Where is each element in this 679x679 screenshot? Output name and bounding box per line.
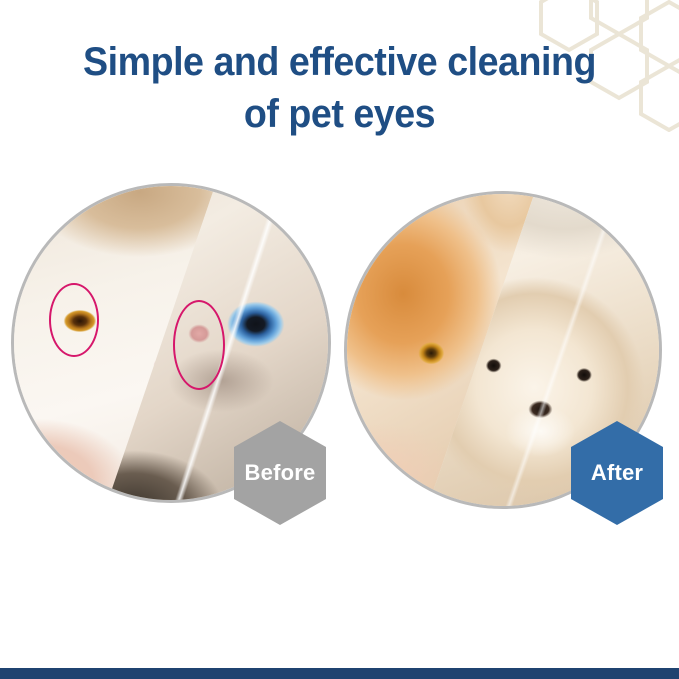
page-title: Simple and effective cleaning of pet eye… xyxy=(20,36,658,140)
page-title-line-1: Simple and effective cleaning xyxy=(20,36,658,88)
promo-graphic: Simple and effective cleaning of pet eye… xyxy=(0,0,679,679)
page-title-line-2: of pet eyes xyxy=(20,88,658,140)
bottom-accent-bar xyxy=(0,668,679,679)
after-badge-label: After xyxy=(591,460,643,486)
before-badge-label: Before xyxy=(245,460,316,486)
